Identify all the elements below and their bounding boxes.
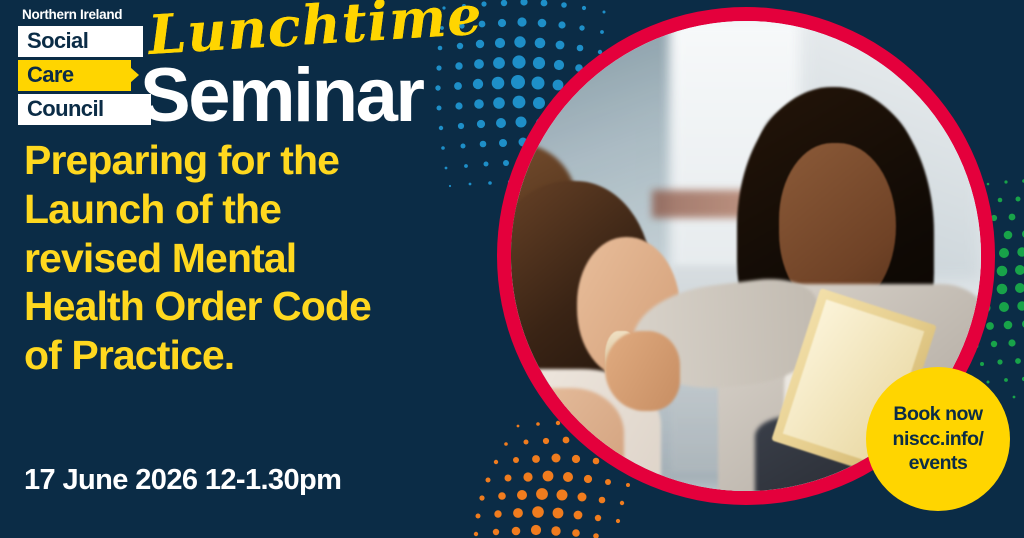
niscc-logo: Northern Ireland Social Care Council xyxy=(18,8,146,128)
logo-block-council: Council xyxy=(18,94,151,125)
headline-line-3: revised Mental xyxy=(24,234,494,283)
headline-line-5: of Practice. xyxy=(24,331,494,380)
badge-line-2: niscc.info/ xyxy=(893,427,984,452)
logo-northern-ireland-text: Northern Ireland xyxy=(22,8,146,22)
page-title: Preparing for the Launch of the revised … xyxy=(24,136,494,380)
photo-left-woman-shoulder xyxy=(511,388,624,491)
lunchtime-script-title: Lunchtime xyxy=(147,0,484,62)
headline-line-1: Preparing for the xyxy=(24,136,494,185)
seminar-title: Seminar xyxy=(140,58,422,134)
book-now-badge[interactable]: Book now niscc.info/ events xyxy=(866,367,1010,511)
logo-block-care: Care xyxy=(18,60,131,91)
headline-line-2: Launch of the xyxy=(24,185,494,234)
seminar-promo-banner: Northern Ireland Social Care Council Lun… xyxy=(0,0,1024,538)
photo-right-woman-hand xyxy=(605,331,680,411)
headline-line-4: Health Order Code xyxy=(24,282,494,331)
event-datetime: 17 June 2026 12-1.30pm xyxy=(24,466,341,495)
logo-block-social: Social xyxy=(18,26,143,57)
badge-line-1: Book now xyxy=(893,402,982,427)
badge-line-3: events xyxy=(909,451,968,476)
